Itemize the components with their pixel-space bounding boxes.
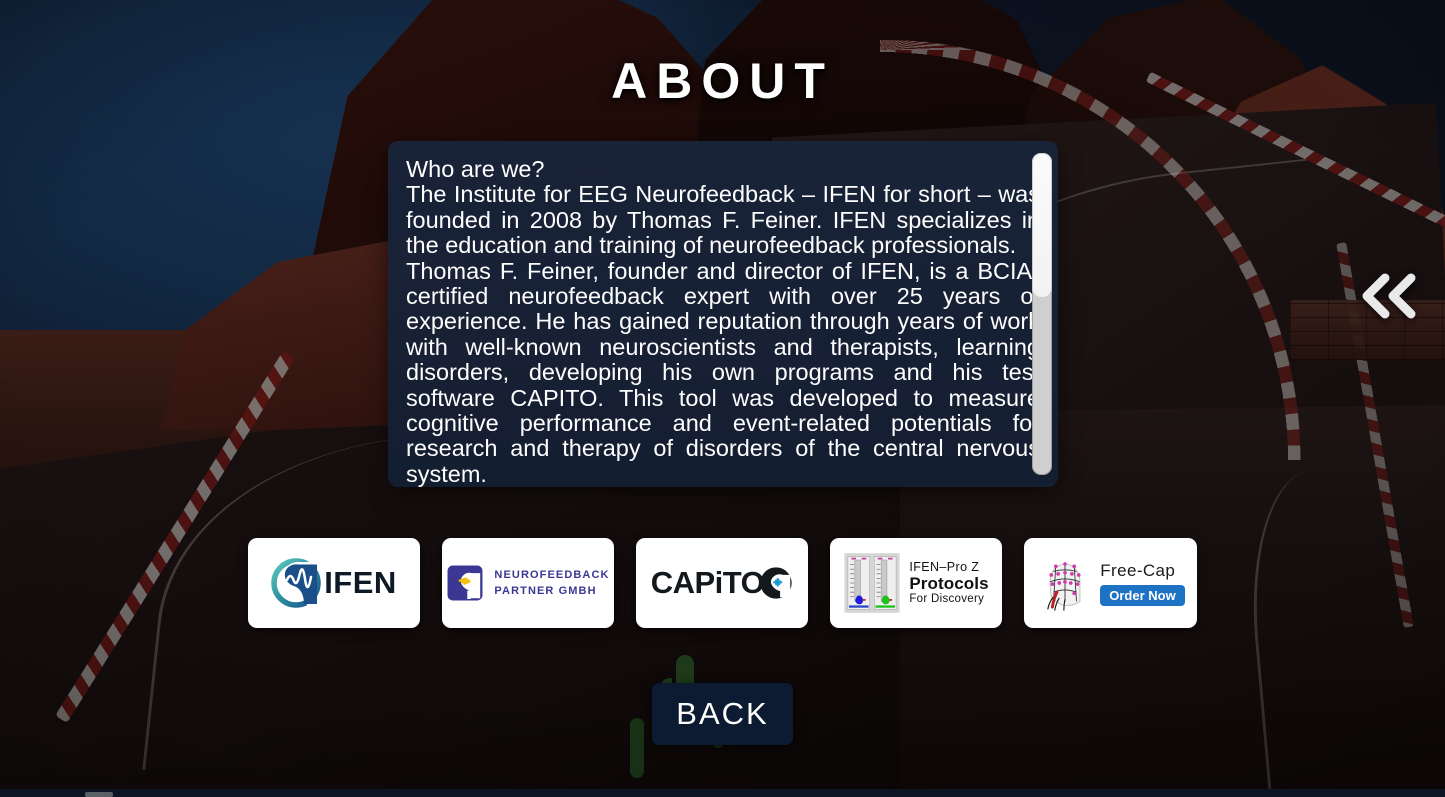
about-paragraph-1: The Institute for EEG Neurofeedback – IF… — [406, 182, 1040, 258]
freecap-order-now-button[interactable]: Order Now — [1100, 585, 1184, 606]
freecap-logo-title: Free-Cap — [1100, 561, 1184, 581]
ifen-brain-head-icon — [271, 558, 321, 608]
bottom-indicator — [85, 792, 113, 797]
neurofeedback-partner-head-icon — [446, 564, 484, 602]
page-title: ABOUT — [0, 52, 1445, 110]
nfp-logo-line2: PARTNER GMBH — [494, 583, 609, 599]
ifen-pro-z-meters-icon — [843, 552, 901, 614]
capito-logo-text: CAPiTO — [651, 565, 765, 601]
free-cap-eeg-cap-icon — [1036, 552, 1094, 614]
logo-card-free-cap[interactable]: Free-Cap Order Now — [1024, 538, 1197, 628]
about-paragraph-heading: Who are we? — [406, 157, 1040, 182]
logo-card-capito[interactable]: CAPiTO — [636, 538, 808, 628]
cactus — [630, 718, 644, 778]
back-button[interactable]: BACK — [652, 683, 793, 745]
about-paragraph-2: Thomas F. Feiner, founder and director o… — [406, 259, 1040, 487]
double-chevron-left-icon[interactable] — [1358, 270, 1422, 322]
logo-card-neurofeedback-partner[interactable]: NEUROFEEDBACK PARTNER GMBH — [442, 538, 614, 628]
ifen-logo-text: IFEN — [324, 565, 397, 601]
about-screen: ABOUT Who are we? The Institute for EEG … — [0, 0, 1445, 797]
ifenpro-logo-line1: IFEN–Pro Z — [909, 560, 988, 574]
ifenpro-logo-line3: For Discovery — [909, 593, 988, 606]
about-text-body: Who are we? The Institute for EEG Neurof… — [388, 141, 1058, 487]
nfp-logo-line1: NEUROFEEDBACK — [494, 567, 609, 583]
about-scrollbar[interactable] — [1032, 153, 1052, 475]
about-text-panel: Who are we? The Institute for EEG Neurof… — [388, 141, 1058, 487]
about-scrollbar-thumb[interactable] — [1032, 153, 1052, 298]
back-button-label: BACK — [676, 696, 768, 732]
partner-logo-strip: IFEN NEUROFEEDBACK PARTNER GMBH — [248, 538, 1198, 628]
logo-card-ifen-pro-z[interactable]: IFEN–Pro Z Protocols For Discovery — [830, 538, 1002, 628]
ifenpro-logo-line2: Protocols — [909, 574, 988, 593]
capito-head-icon — [759, 566, 793, 600]
bottom-bar — [0, 789, 1445, 797]
logo-card-ifen[interactable]: IFEN — [248, 538, 420, 628]
